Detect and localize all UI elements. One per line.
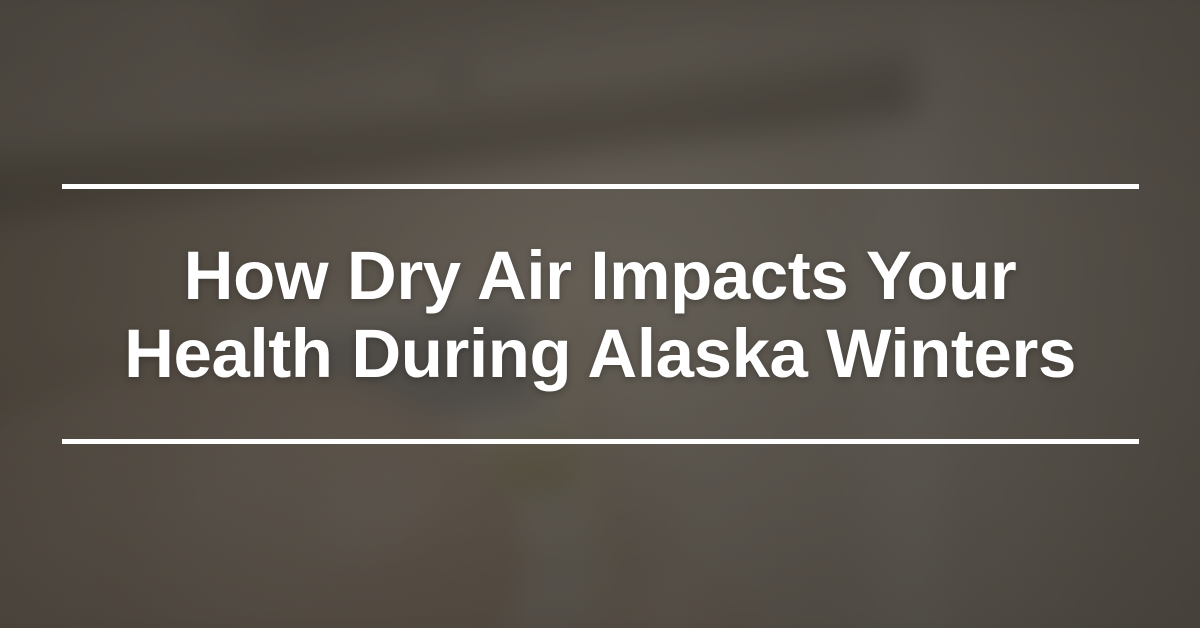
headline-block: How Dry Air Impacts Your Health During A… <box>0 0 1200 628</box>
blog-header-banner: How Dry Air Impacts Your Health During A… <box>0 0 1200 628</box>
divider-rule-top <box>62 184 1139 189</box>
page-title: How Dry Air Impacts Your Health During A… <box>45 237 1155 393</box>
divider-rule-bottom <box>62 439 1139 444</box>
